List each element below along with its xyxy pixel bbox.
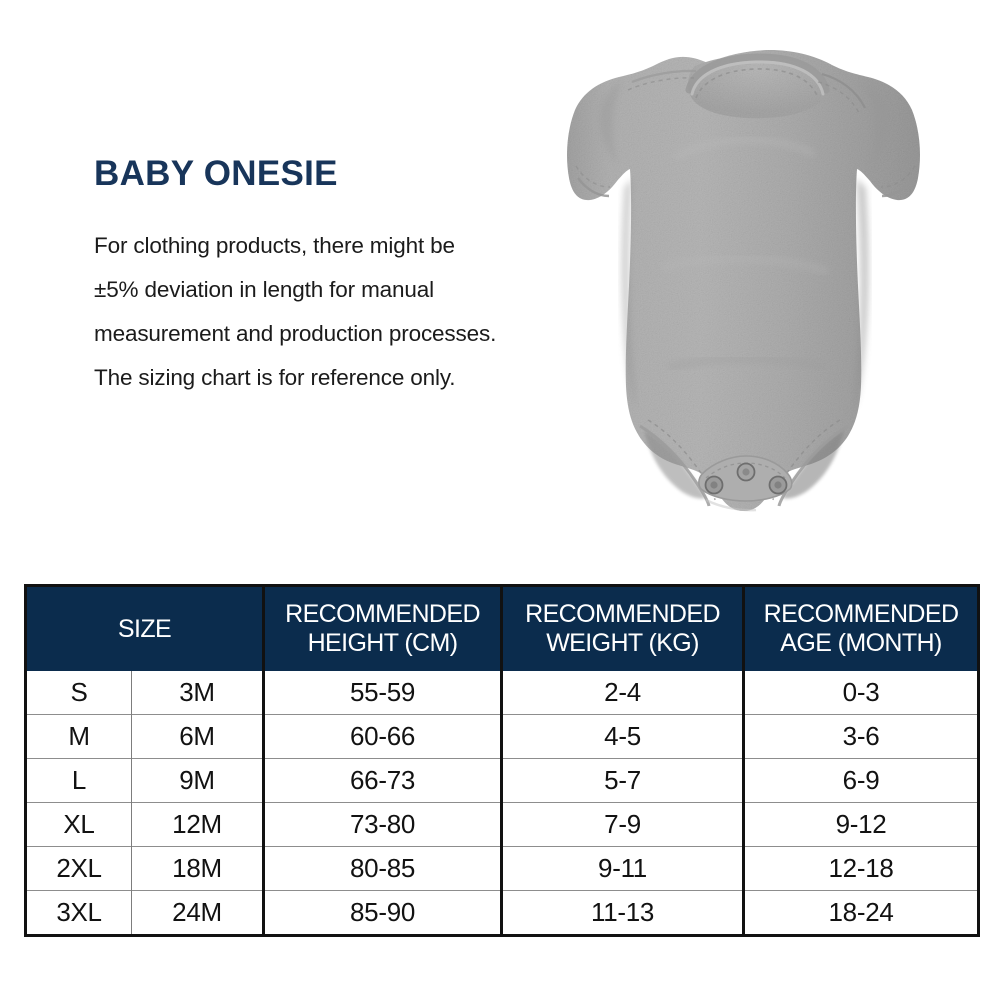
cell-size: L [26, 759, 132, 803]
header-height-line2: HEIGHT (CM) [308, 629, 458, 657]
cell-size: 2XL [26, 847, 132, 891]
cell-height: 80-85 [264, 847, 502, 891]
size-chart-table: SIZE RECOMMENDED HEIGHT (CM) RECOMMENDED… [24, 584, 980, 937]
header-height-line1: RECOMMENDED [285, 600, 480, 628]
table-row: 3XL24M85-9011-1318-24 [26, 891, 979, 936]
description-line-2: ±5% deviation in length for manual [94, 268, 564, 312]
cell-months: 12M [132, 803, 264, 847]
cell-age: 0-3 [744, 671, 979, 715]
table-row: L9M66-735-76-9 [26, 759, 979, 803]
header-size: SIZE [26, 586, 264, 672]
table-header: SIZE RECOMMENDED HEIGHT (CM) RECOMMENDED… [26, 586, 979, 672]
cell-weight: 7-9 [502, 803, 744, 847]
header-age-line2: AGE (MONTH) [780, 629, 941, 657]
cell-size: XL [26, 803, 132, 847]
header-row: SIZE RECOMMENDED HEIGHT (CM) RECOMMENDED… [26, 586, 979, 672]
header-weight-line1: RECOMMENDED [525, 600, 720, 628]
header-height: RECOMMENDED HEIGHT (CM) [264, 586, 502, 672]
table-body: S3M55-592-40-3M6M60-664-53-6L9M66-735-76… [26, 671, 979, 936]
cell-weight: 9-11 [502, 847, 744, 891]
description-line-4: The sizing chart is for reference only. [94, 356, 564, 400]
size-chart: SIZE RECOMMENDED HEIGHT (CM) RECOMMENDED… [24, 584, 977, 937]
description-line-1: For clothing products, there might be [94, 224, 564, 268]
cell-months: 3M [132, 671, 264, 715]
cell-age: 3-6 [744, 715, 979, 759]
cell-weight: 4-5 [502, 715, 744, 759]
cell-weight: 2-4 [502, 671, 744, 715]
header-age-line1: RECOMMENDED [764, 600, 959, 628]
cell-months: 9M [132, 759, 264, 803]
cell-months: 24M [132, 891, 264, 936]
cell-height: 73-80 [264, 803, 502, 847]
header-age: RECOMMENDED AGE (MONTH) [744, 586, 979, 672]
product-description: For clothing products, there might be ±5… [94, 224, 564, 400]
cell-height: 55-59 [264, 671, 502, 715]
cell-weight: 11-13 [502, 891, 744, 936]
cell-size: S [26, 671, 132, 715]
table-row: 2XL18M80-859-1112-18 [26, 847, 979, 891]
page-title: BABY ONESIE [94, 155, 564, 194]
cell-age: 12-18 [744, 847, 979, 891]
cell-height: 66-73 [264, 759, 502, 803]
cell-age: 9-12 [744, 803, 979, 847]
table-row: M6M60-664-53-6 [26, 715, 979, 759]
cell-height: 85-90 [264, 891, 502, 936]
description-line-3: measurement and production processes. [94, 312, 564, 356]
header-weight: RECOMMENDED WEIGHT (KG) [502, 586, 744, 672]
cell-size: M [26, 715, 132, 759]
cell-age: 18-24 [744, 891, 979, 936]
table-row: XL12M73-807-99-12 [26, 803, 979, 847]
cell-weight: 5-7 [502, 759, 744, 803]
cell-months: 18M [132, 847, 264, 891]
cell-size: 3XL [26, 891, 132, 936]
baby-onesie-photo [556, 38, 976, 568]
header-weight-line2: WEIGHT (KG) [546, 629, 699, 657]
cell-height: 60-66 [264, 715, 502, 759]
table-row: S3M55-592-40-3 [26, 671, 979, 715]
cell-months: 6M [132, 715, 264, 759]
cell-age: 6-9 [744, 759, 979, 803]
product-info-block: BABY ONESIE For clothing products, there… [94, 155, 564, 400]
